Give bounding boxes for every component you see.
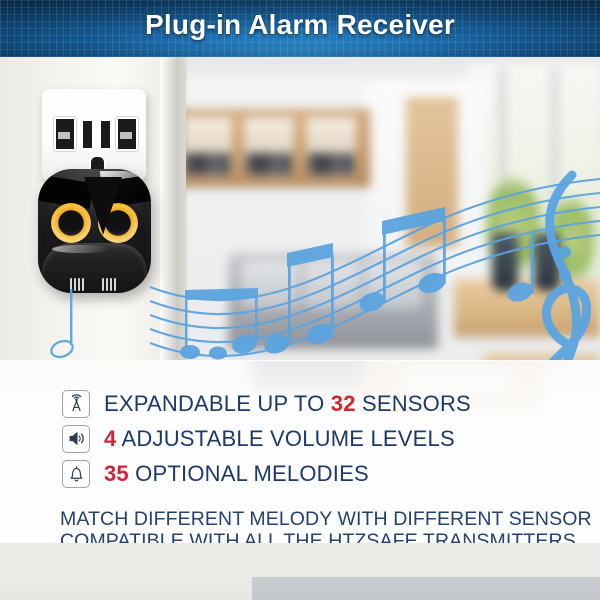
planter (534, 233, 560, 291)
usb-port-right (116, 117, 138, 151)
planter (492, 233, 518, 291)
feature-label-melodies: 35 OPTIONAL MELODIES (104, 461, 369, 487)
product-infographic: Plug-in Alarm Receiver (0, 0, 600, 600)
feature-row-volume: 4 ADJUSTABLE VOLUME LEVELS (62, 421, 471, 456)
footer-strip-right (252, 577, 600, 600)
footer-strip-left (0, 577, 252, 600)
feature-label-volume: 4 ADJUSTABLE VOLUME LEVELS (104, 426, 455, 452)
footer-strip (0, 577, 600, 600)
feature-label-sensors: EXPANDABLE UP TO 32 SENSORS (104, 391, 471, 417)
feature-row-melodies: 35 OPTIONAL MELODIES (62, 456, 471, 491)
tagline-line-1: MATCH DIFFERENT MELODY WITH DIFFERENT SE… (60, 508, 592, 530)
feature-panel: EXPANDABLE UP TO 32 SENSORS 4 ADJUSTABLE… (0, 360, 600, 543)
tagline-line-2: COMPATIBLE WITH ALL THE HTZSAFE TRANSMIT… (60, 530, 592, 543)
tagline-block: MATCH DIFFERENT MELODY WITH DIFFERENT SE… (60, 508, 592, 543)
feature-list: EXPANDABLE UP TO 32 SENSORS 4 ADJUSTABLE… (62, 386, 471, 491)
page-title: Plug-in Alarm Receiver (0, 9, 600, 41)
owl-talon-left (70, 277, 86, 291)
owl-beak (84, 177, 122, 235)
owl-alarm-receiver (38, 169, 151, 293)
wall-outlet (42, 89, 146, 181)
ac-slot-right (99, 119, 112, 150)
owl-talon-right (102, 277, 118, 291)
usb-port-left (54, 117, 76, 151)
bell-icon (62, 460, 90, 488)
antenna-signal-icon (62, 390, 90, 418)
header-banner: Plug-in Alarm Receiver (0, 0, 600, 57)
sofa (228, 253, 438, 349)
feature-row-sensors: EXPANDABLE UP TO 32 SENSORS (62, 386, 471, 421)
bookshelf (174, 109, 370, 187)
panel-divider (0, 360, 600, 361)
speaker-volume-icon (62, 425, 90, 453)
ac-slot-left (81, 119, 94, 150)
sideboard (454, 279, 600, 337)
wood-door (406, 97, 458, 247)
owl-body-lower (42, 243, 147, 293)
